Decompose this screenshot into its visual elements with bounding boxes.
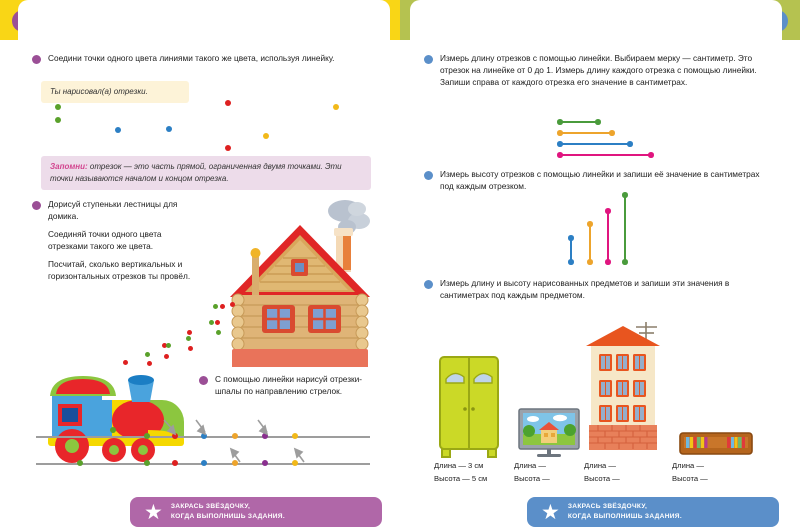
note-you-drew-segments: Ты нарисовал(а) отрезки. [41, 81, 189, 103]
task-bullet-icon [424, 55, 433, 64]
left-banner-line2: КОГДА ВЫПОЛНИШЬ ЗАДАНИЯ. [171, 512, 285, 522]
task-draw-sleepers: С помощью линейки нарисуй отрезки-шпалы … [199, 373, 374, 397]
stair-dot[interactable] [187, 330, 192, 335]
segment-endpoint [587, 259, 593, 265]
right-banner-line2: КОГДА ВЫПОЛНИШЬ ЗАДАНИЯ. [568, 512, 682, 522]
left-banner-text: ЗАКРАСЬ ЗВЁЗДОЧКУ, КОГДА ВЫПОЛНИШЬ ЗАДАН… [171, 502, 285, 522]
task-bullet-icon [424, 171, 433, 180]
direction-arrows [36, 418, 376, 464]
segment-endpoint [557, 119, 563, 125]
stair-dot[interactable] [186, 336, 191, 341]
stair-dot[interactable] [166, 343, 171, 348]
task-measure-length: Измерь длину отрезков с помощью линейки.… [424, 52, 772, 88]
task-draw-stairs-line1: Дорисуй ступеньки лестницы для домика. [48, 198, 197, 222]
stair-dot[interactable] [220, 304, 225, 309]
stair-dot[interactable] [145, 352, 150, 357]
stair-dot[interactable] [123, 360, 128, 365]
left-star-banner[interactable]: ★ ЗАКРАСЬ ЗВЁЗДОЧКУ, КОГДА ВЫПОЛНИШЬ ЗАД… [130, 497, 382, 527]
measure-length-shelf: Длина — [672, 460, 708, 473]
stair-dot[interactable] [147, 361, 152, 366]
remember-callout: Запомни: отрезок — это часть прямой, огр… [41, 156, 371, 190]
right-star-banner[interactable]: ★ ЗАКРАСЬ ЗВЁЗДОЧКУ, КОГДА ВЫПОЛНИШЬ ЗАД… [527, 497, 779, 527]
task-draw-stairs-body: Дорисуй ступеньки лестницы для домика. С… [48, 198, 197, 282]
stair-dot[interactable] [230, 302, 235, 307]
segment-endpoint [622, 259, 628, 265]
task-measure-height: Измерь высоту отрезков с помощью линейки… [424, 168, 764, 192]
measure-length-tv: Длина — [514, 460, 550, 473]
segment-endpoint [595, 119, 601, 125]
segment-endpoint [557, 152, 563, 158]
segment-endpoint [557, 141, 563, 147]
remember-label: Запомни: [50, 162, 88, 171]
exercise-dot[interactable] [225, 145, 231, 151]
measure-height-wardrobe: Высота — 5 см [434, 473, 487, 486]
segment-endpoint [587, 221, 593, 227]
measure-label-shelf: Длина — Высота — [672, 460, 708, 486]
task-draw-stairs-line2: Соединяй точки одного цвета отрезками та… [48, 228, 197, 252]
segment-endpoint [605, 208, 611, 214]
left-banner-line1: ЗАКРАСЬ ЗВЁЗДОЧКУ, [171, 502, 285, 512]
task-draw-stairs: Дорисуй ступеньки лестницы для домика. С… [32, 198, 197, 282]
remember-text: отрезок — это часть прямой, ограниченная… [50, 162, 342, 183]
task-draw-stairs-line3: Посчитай, сколько вертикальных и горизон… [48, 258, 197, 282]
stair-dot[interactable] [216, 330, 221, 335]
segment-endpoint [627, 141, 633, 147]
measure-label-wardrobe: Длина — 3 см Высота — 5 см [434, 460, 487, 486]
wardrobe-icon [434, 355, 504, 460]
measure-height-tv: Высота — [514, 473, 550, 486]
measure-length-building: Длина — [584, 460, 620, 473]
measure-height-shelf: Высота — [672, 473, 708, 486]
segment-endpoint [557, 130, 563, 136]
right-banner-text: ЗАКРАСЬ ЗВЁЗДОЧКУ, КОГДА ВЫПОЛНИШЬ ЗАДАН… [568, 502, 682, 522]
segment-endpoint [568, 259, 574, 265]
stair-dot[interactable] [188, 346, 193, 351]
task-measure-height-text: Измерь высоту отрезков с помощью линейки… [440, 168, 764, 192]
task-connect-dots-text: Соедини точки одного цвета линиями таког… [48, 52, 334, 64]
exercise-dot[interactable] [55, 104, 61, 110]
tv-icon [518, 408, 580, 458]
exercise-dot[interactable] [333, 104, 339, 110]
segment-endpoint [622, 192, 628, 198]
right-banner-line1: ЗАКРАСЬ ЗВЁЗДОЧКУ, [568, 502, 682, 512]
task-bullet-icon [199, 376, 208, 385]
segment-endpoint [605, 259, 611, 265]
stair-dot[interactable] [213, 304, 218, 309]
measure-label-tv: Длина — Высота — [514, 460, 550, 486]
task-bullet-icon [424, 280, 433, 289]
task-bullet-icon [32, 55, 41, 64]
measure-label-building: Длина — Высота — [584, 460, 620, 486]
stair-dot[interactable] [215, 320, 220, 325]
task-draw-sleepers-text: С помощью линейки нарисуй отрезки-шпалы … [215, 373, 374, 397]
stair-dot[interactable] [209, 320, 214, 325]
task-bullet-icon [32, 201, 41, 210]
star-icon: ★ [541, 502, 560, 523]
segment-endpoint [609, 130, 615, 136]
measure-length-wardrobe: Длина — 3 см [434, 460, 487, 473]
exercise-dot[interactable] [166, 126, 172, 132]
apartment-building-icon [578, 318, 668, 458]
segment-endpoint [568, 235, 574, 241]
measure-height-building: Высота — [584, 473, 620, 486]
log-house-icon [205, 197, 395, 367]
book-shelf-icon [679, 432, 753, 456]
exercise-dot[interactable] [115, 127, 121, 133]
stair-dot[interactable] [164, 354, 169, 359]
task-connect-dots: Соедини точки одного цвета линиями таког… [32, 52, 372, 64]
exercise-dot[interactable] [263, 133, 269, 139]
task-measure-objects: Измерь длину и высоту нарисованных предм… [424, 277, 764, 301]
exercise-dot[interactable] [225, 100, 231, 106]
star-icon: ★ [144, 502, 163, 523]
exercise-dot[interactable] [55, 117, 61, 123]
task-measure-length-text: Измерь длину отрезков с помощью линейки.… [440, 52, 772, 88]
task-measure-objects-text: Измерь длину и высоту нарисованных предм… [440, 277, 764, 301]
segment-endpoint [648, 152, 654, 158]
workbook-spread: 8 ОТРЕЗОК 9 ДЛИНА ОТРЕЗКА, ЕДИНИЦА ДЛИНЫ… [0, 0, 800, 527]
